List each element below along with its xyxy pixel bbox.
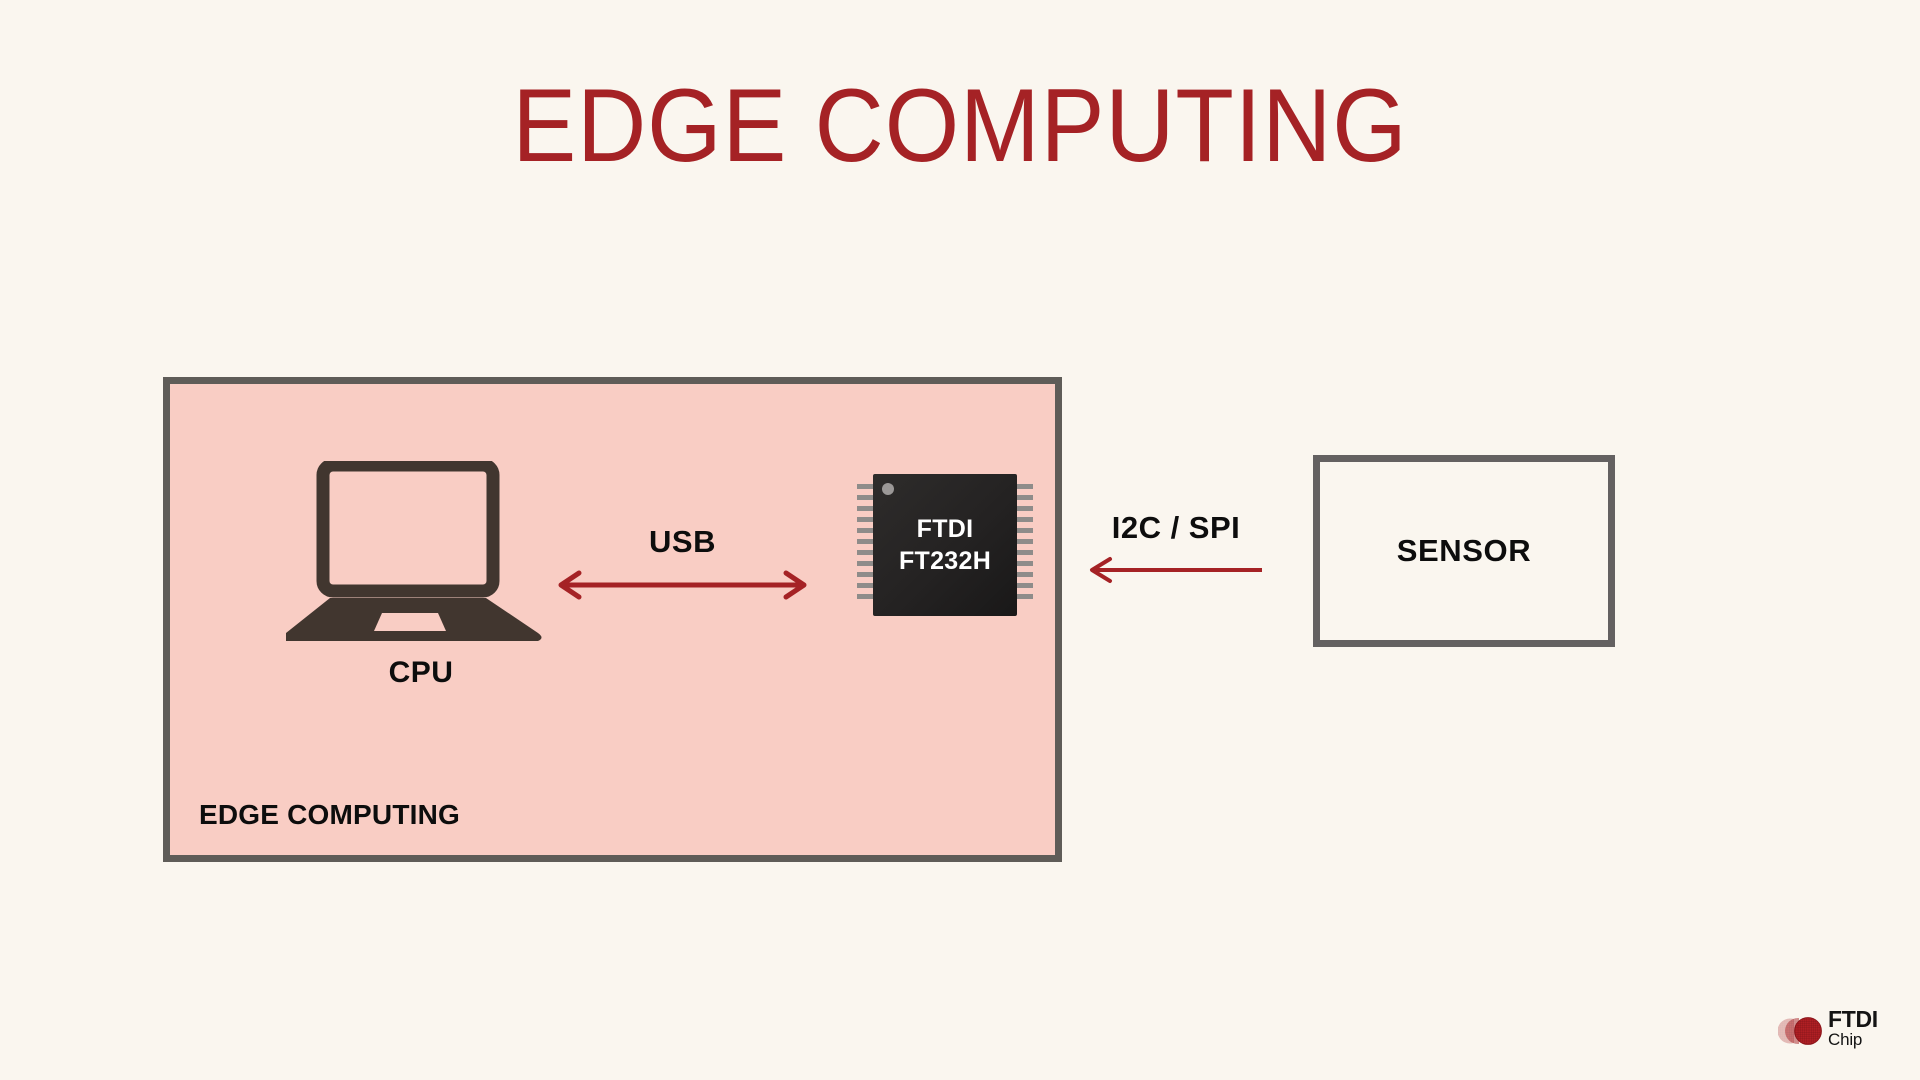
- ftdi-logo-sub: Chip: [1828, 1030, 1898, 1050]
- usb-arrow-icon: [555, 568, 810, 602]
- laptop-icon: [286, 461, 556, 646]
- pin1-dot-icon: [882, 483, 894, 495]
- edge-computing-container: CPU USB: [163, 377, 1062, 862]
- ftdi-wordmark: FTDI Chip: [1828, 1008, 1898, 1054]
- sensor-box: SENSOR: [1313, 455, 1615, 647]
- edge-computing-label: EDGE COMPUTING: [199, 799, 460, 831]
- ftdi-logo-name: FTDI: [1828, 1008, 1898, 1030]
- usb-connection: USB: [555, 524, 810, 604]
- page-title: EDGE COMPUTING: [77, 72, 1843, 181]
- ft232h-chip: FTDI FT232H: [855, 470, 1035, 620]
- usb-label: USB: [555, 524, 810, 560]
- i2c-spi-connection: I2C / SPI: [1088, 510, 1264, 590]
- ftdi-sphere-icon: [1778, 1010, 1824, 1052]
- i2c-spi-arrow-icon: [1088, 555, 1264, 585]
- ftdi-chip-logo: FTDI Chip: [1778, 1008, 1896, 1056]
- sensor-label: SENSOR: [1397, 533, 1532, 569]
- i2c-spi-label: I2C / SPI: [1088, 510, 1264, 546]
- cpu-label: CPU: [286, 656, 556, 690]
